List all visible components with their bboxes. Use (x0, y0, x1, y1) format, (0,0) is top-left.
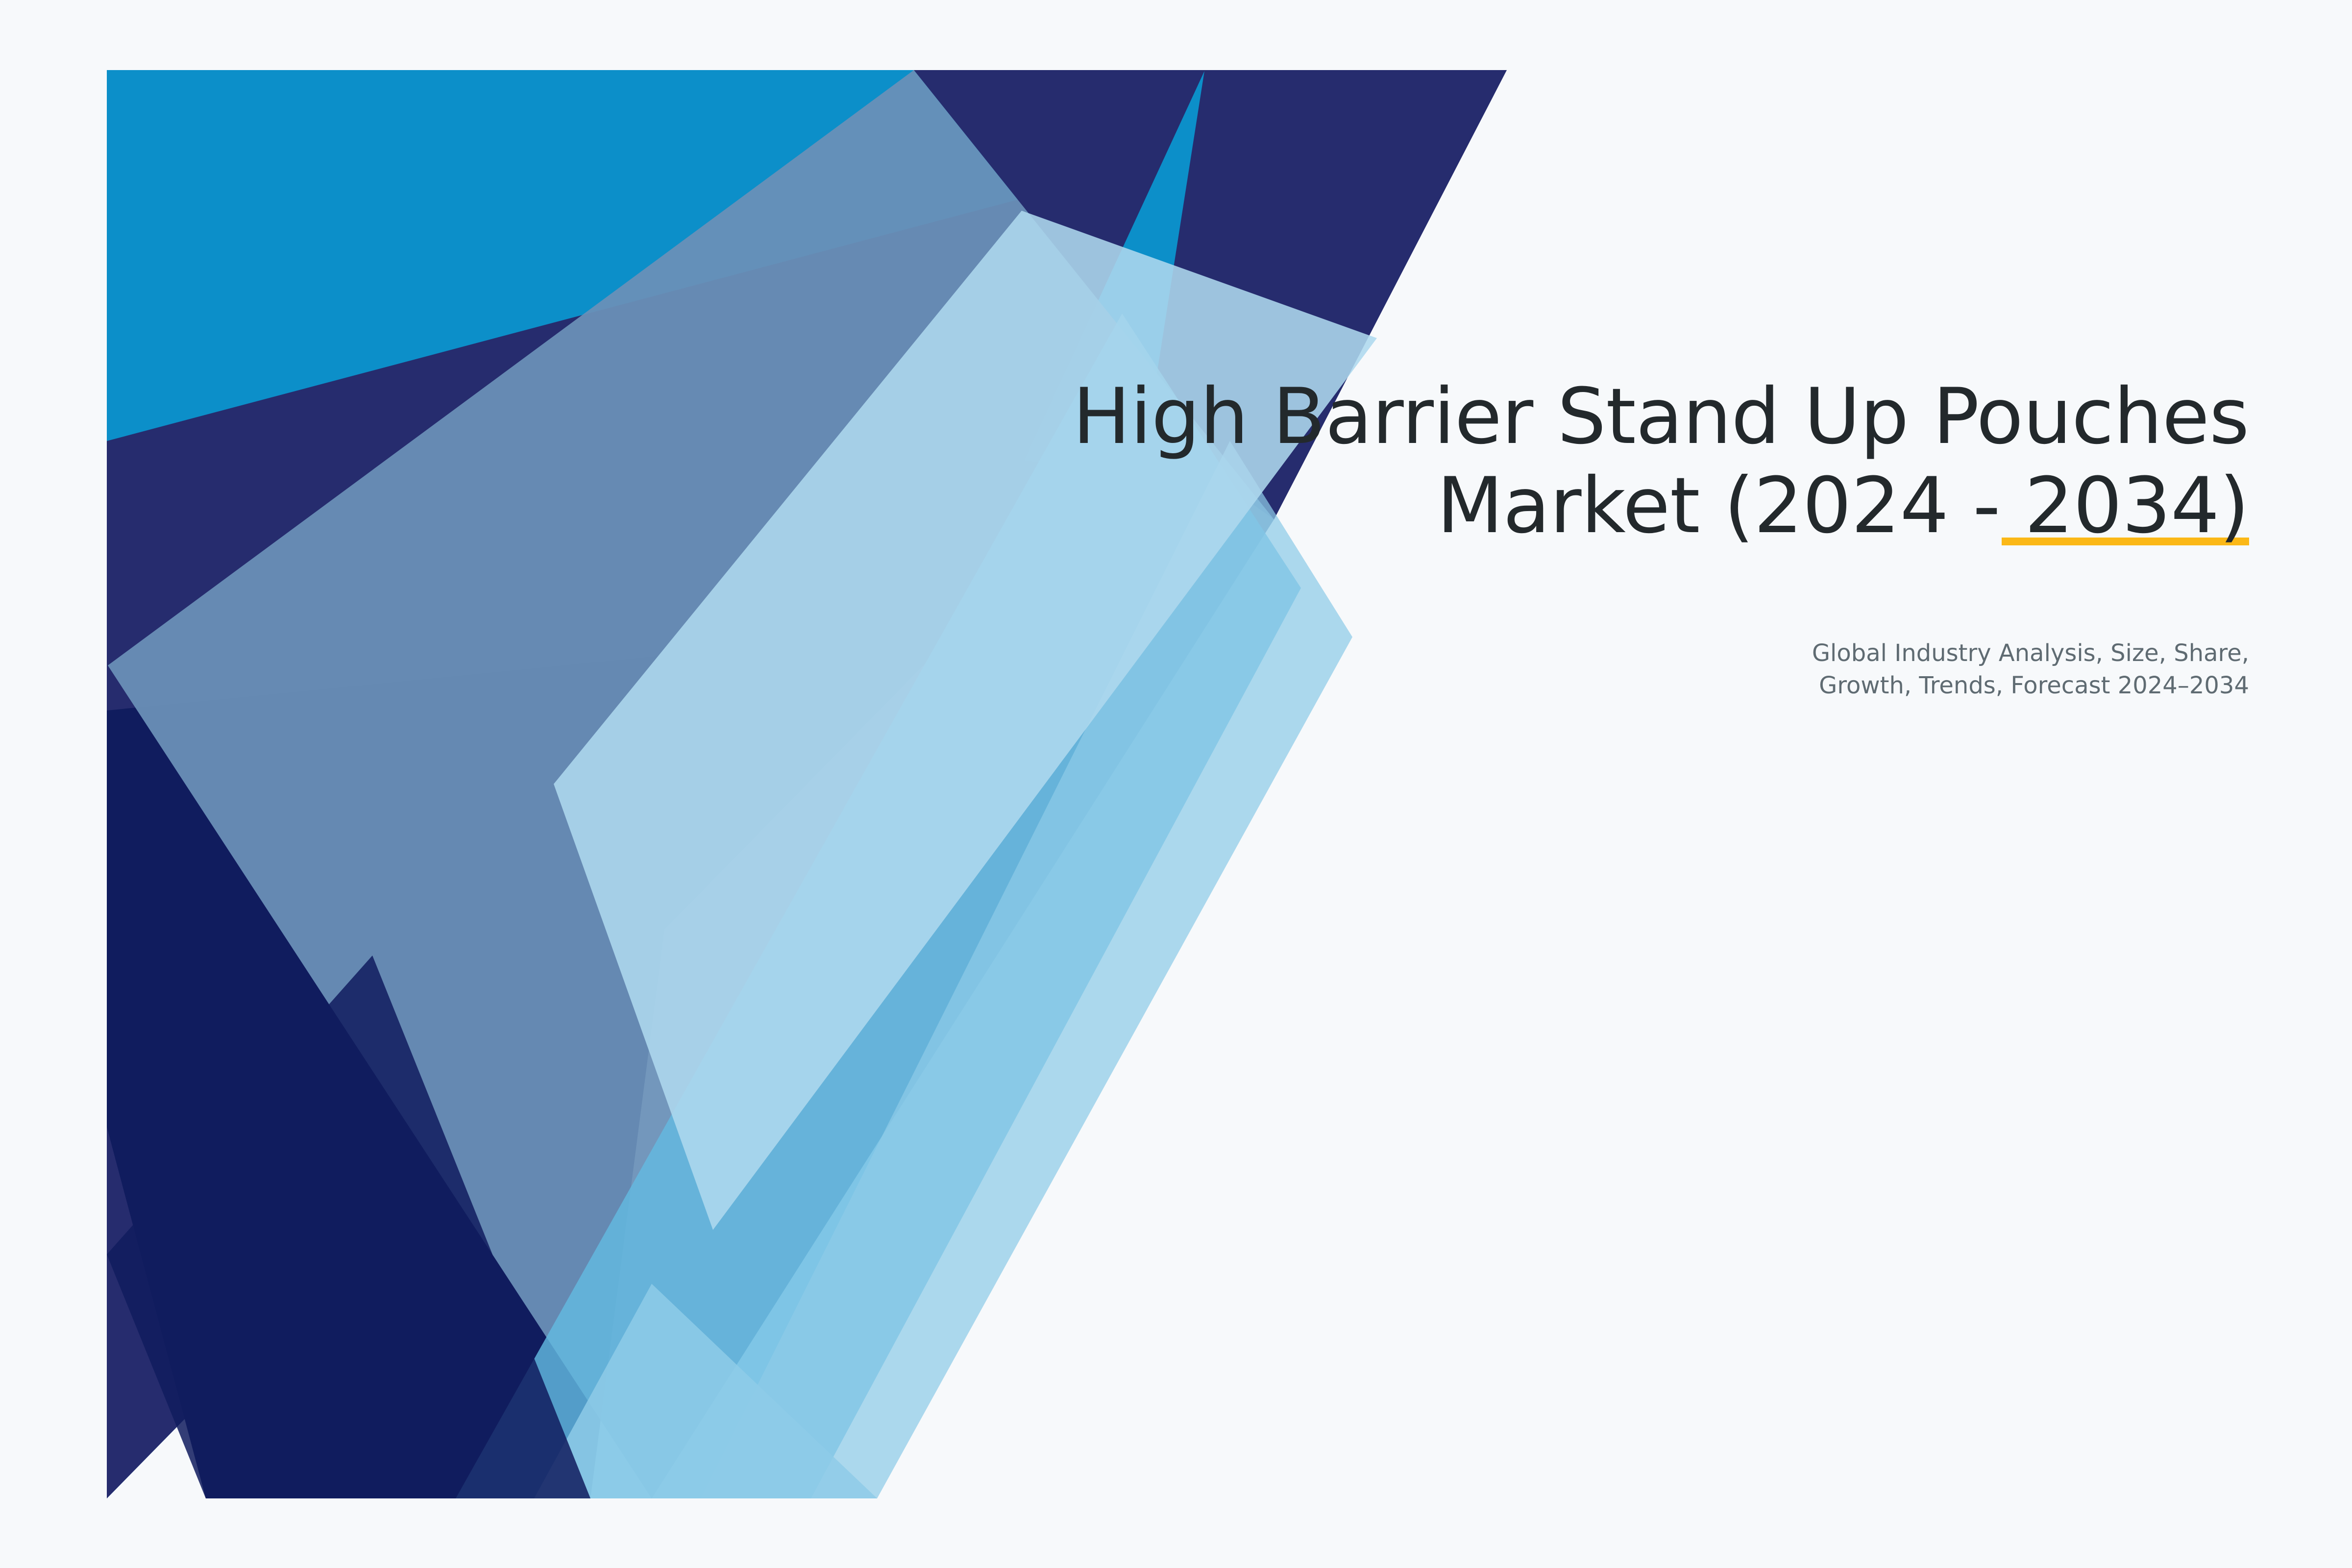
cover-text-block: High Barrier Stand Up Pouches Market (20… (1068, 372, 2249, 551)
abstract-geometric-artwork (0, 0, 2352, 1568)
page-title: High Barrier Stand Up Pouches Market (20… (1068, 372, 2249, 551)
page-subtitle: Global Industry Analysis, Size, Share, G… (1558, 637, 2249, 702)
report-cover-page: High Barrier Stand Up Pouches Market (20… (0, 0, 2352, 1568)
